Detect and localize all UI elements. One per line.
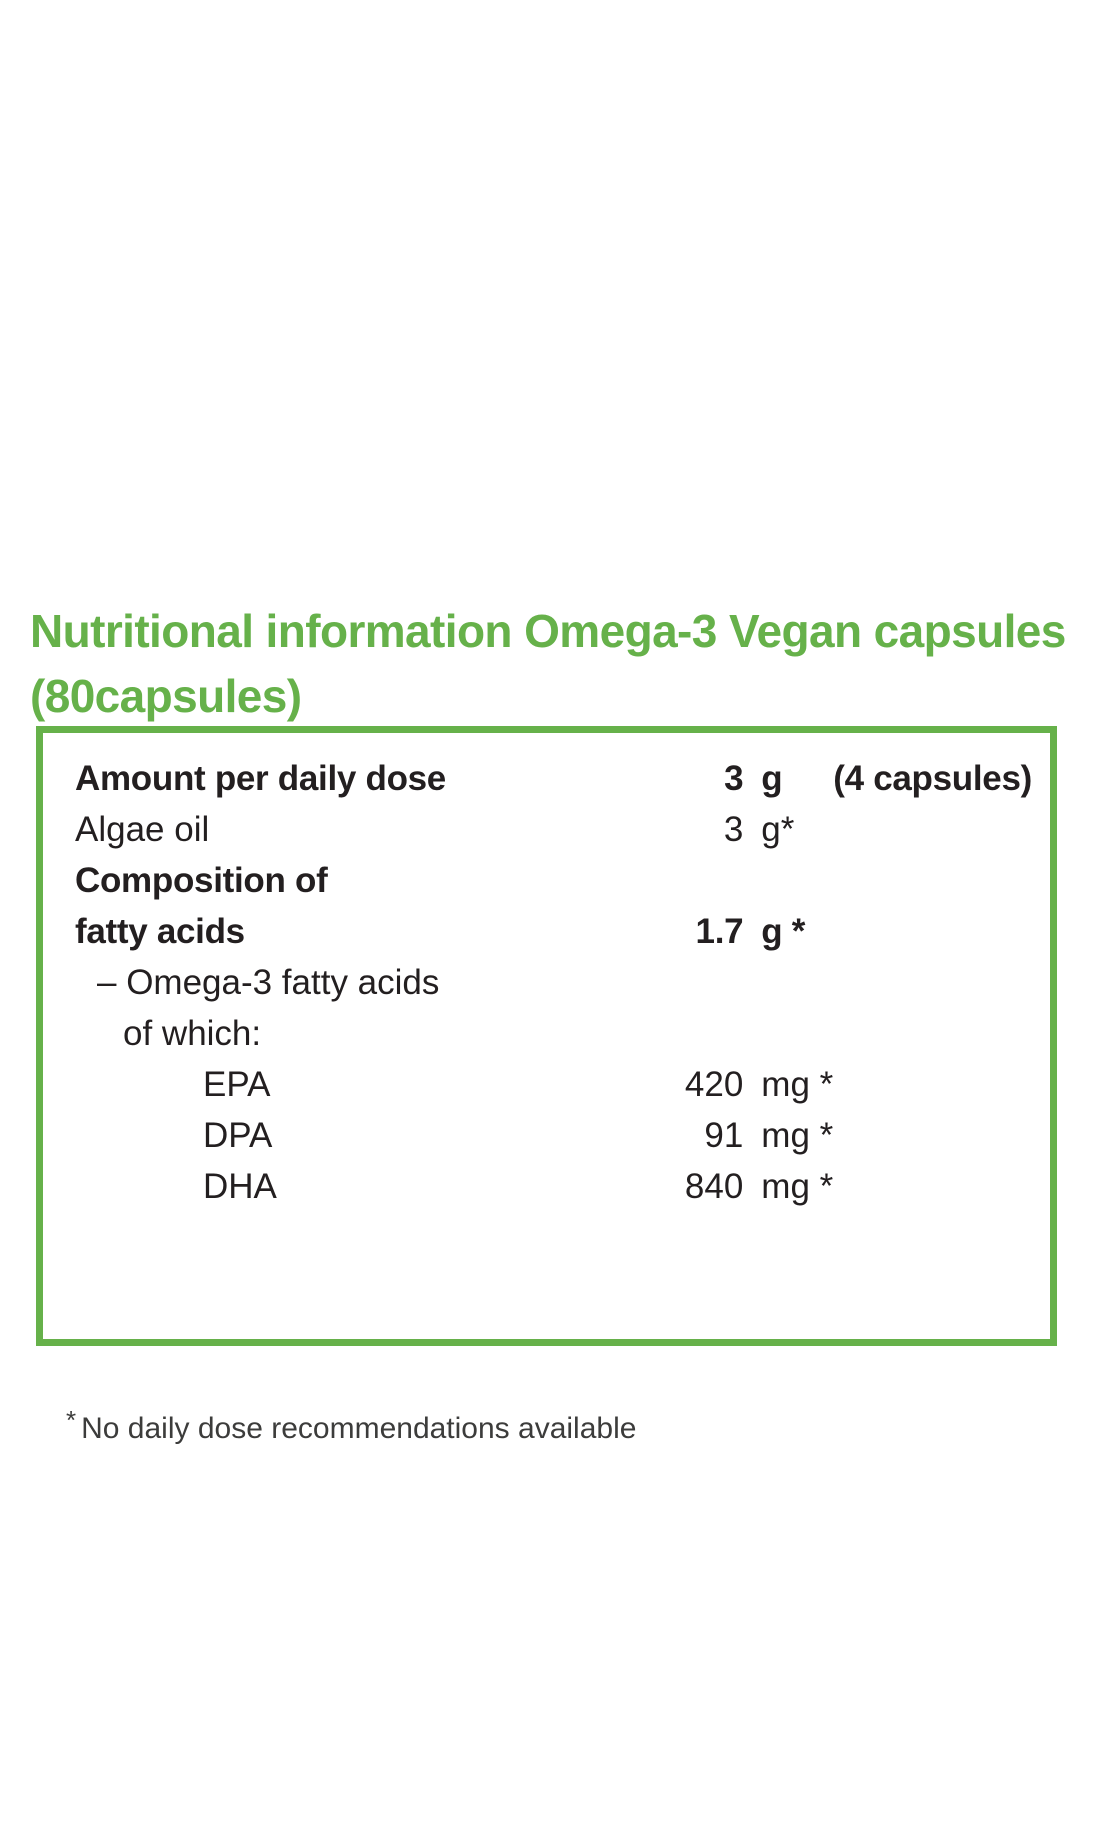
table-row: fatty acids1.7g * (75, 906, 1032, 957)
row-value (646, 855, 761, 906)
row-value: 840 (646, 1161, 761, 1212)
row-value: 3 (646, 753, 761, 804)
row-note (833, 906, 1032, 957)
row-unit (761, 855, 833, 906)
table-row: Algae oil3g* (75, 804, 1032, 855)
row-note (833, 1059, 1032, 1110)
nutrition-table: Amount per daily dose3g(4 capsules)Algae… (75, 753, 1032, 1212)
footnote: *No daily dose recommendations available (66, 1400, 636, 1449)
table-row: – Omega-3 fatty acids (75, 957, 1032, 1008)
row-note (833, 804, 1032, 855)
row-note (833, 1110, 1032, 1161)
row-label: fatty acids (75, 906, 646, 957)
table-row: DHA840mg * (75, 1161, 1032, 1212)
page-title: Nutritional information Omega-3 Vegan ca… (30, 599, 1070, 730)
row-value (646, 1008, 761, 1059)
row-value: 1.7 (646, 906, 761, 957)
row-label: – Omega-3 fatty acids (75, 957, 646, 1008)
row-note (833, 1008, 1032, 1059)
row-note (833, 1161, 1032, 1212)
row-label: Composition of (75, 855, 646, 906)
row-unit: g * (761, 906, 833, 957)
row-label: Algae oil (75, 804, 646, 855)
row-unit: g* (761, 804, 833, 855)
table-row: EPA420mg * (75, 1059, 1032, 1110)
row-label: of which: (75, 1008, 646, 1059)
table-row: Amount per daily dose3g(4 capsules) (75, 753, 1032, 804)
row-unit: mg * (761, 1059, 833, 1110)
page-title-line-1: Nutritional information Omega-3 Vegan ca… (30, 599, 1070, 664)
row-note (833, 957, 1032, 1008)
row-value (646, 957, 761, 1008)
row-label: Amount per daily dose (75, 753, 646, 804)
row-unit: mg * (761, 1161, 833, 1212)
row-value: 91 (646, 1110, 761, 1161)
nutrition-table-body: Amount per daily dose3g(4 capsules)Algae… (75, 753, 1032, 1212)
row-label: DPA (75, 1110, 646, 1161)
row-note (833, 855, 1032, 906)
table-row: of which: (75, 1008, 1032, 1059)
footnote-text: No daily dose recommendations available (81, 1412, 636, 1445)
row-label: EPA (75, 1059, 646, 1110)
table-row: Composition of (75, 855, 1032, 906)
row-note: (4 capsules) (833, 753, 1032, 804)
footnote-asterisk-icon: * (66, 1405, 76, 1435)
row-unit (761, 957, 833, 1008)
page-title-line-2: (80capsules) (30, 664, 1070, 729)
row-label: DHA (75, 1161, 646, 1212)
nutrition-table-box: Amount per daily dose3g(4 capsules)Algae… (36, 726, 1057, 1346)
row-unit: mg * (761, 1110, 833, 1161)
row-unit: g (761, 753, 833, 804)
row-unit (761, 1008, 833, 1059)
table-row: DPA91mg * (75, 1110, 1032, 1161)
row-value: 3 (646, 804, 761, 855)
row-value: 420 (646, 1059, 761, 1110)
